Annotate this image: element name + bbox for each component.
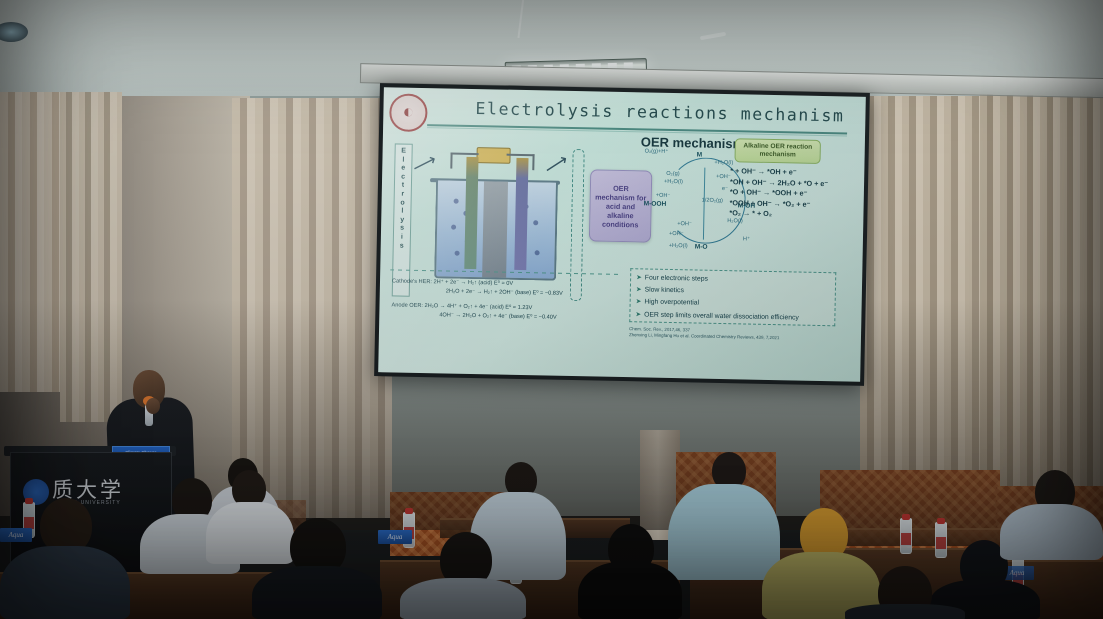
vertical-letter: l	[402, 156, 404, 165]
alkaline-oer-title-box: Alkaline OER reaction mechanism	[734, 138, 820, 164]
cycle-edge-label: O₂(g)+H⁺	[645, 148, 669, 154]
cycle-node-m-ooh: M-OOH	[644, 200, 667, 207]
cycle-edge-label: e⁻	[722, 186, 728, 192]
vertical-electrolysis-label: E l e c t r o l y s i s	[392, 143, 413, 296]
gas-bubble	[451, 225, 456, 230]
bullet-text: Slow kinetics	[645, 287, 684, 295]
dashed-connector	[570, 149, 585, 301]
membrane	[482, 181, 508, 277]
bullet-marker-icon: ➤	[636, 274, 642, 281]
audience-body	[1000, 504, 1103, 560]
cycle-edge-label: H⁺	[743, 236, 750, 242]
gas-bubble	[455, 251, 460, 256]
audience-body	[845, 604, 965, 619]
key-points-box: ➤Four electronic steps ➤Slow kinetics ➤H…	[629, 268, 836, 326]
cycle-node-m: M	[697, 151, 703, 158]
aqua-brand-sign: Aqua	[378, 530, 412, 544]
vertical-letter: c	[401, 173, 405, 182]
gas-bubble	[533, 220, 538, 225]
wire-right-down	[532, 154, 534, 170]
cycle-edge-label: +OH⁻	[677, 221, 692, 227]
bottle-label	[936, 537, 946, 549]
cycle-edge-label: +H₂O(l)	[669, 243, 688, 249]
bullet-text: Four electronic steps	[645, 274, 708, 282]
cathode-label: Cathode's HER:	[392, 278, 432, 285]
slide-title: Electrolysis reactions mechanism	[475, 99, 844, 125]
cathode-equation: 2H⁺ + 2e⁻ → H₂↑ (acid) E⁰ = 0V	[433, 279, 513, 287]
lecture-hall-photo: ◐ Electrolysis reactions mechanism OER m…	[0, 0, 1103, 619]
vertical-letter: r	[401, 191, 404, 200]
cycle-edge-label: +OH⁻	[656, 193, 671, 199]
bullet-text: OER step limits overall water dissociati…	[644, 311, 799, 321]
wire-left	[451, 153, 479, 156]
bullet-marker-icon: ➤	[635, 311, 641, 318]
equation-row: *O₂ → * + O₂	[729, 209, 833, 222]
half-reaction-equations: Cathode's HER: 2H⁺ + 2e⁻ → H₂↑ (acid) E⁰…	[391, 277, 624, 324]
audience-body	[206, 502, 294, 564]
audience-body	[252, 566, 382, 619]
vertical-letter: E	[401, 148, 406, 157]
vertical-letter: e	[401, 165, 405, 174]
university-logo-icon: ◐	[389, 93, 428, 132]
cycle-edge-label: +H₂O(l)	[664, 179, 683, 185]
cycle-edge-label: O₂(g)	[666, 171, 679, 177]
cycle-node-m-o: M-O	[695, 243, 708, 250]
vertical-letter: s	[400, 225, 404, 234]
bottle-cap	[902, 514, 910, 520]
vertical-letter: i	[401, 234, 403, 243]
bullet-text: High overpotential	[644, 299, 699, 307]
bullet-marker-icon: ➤	[636, 299, 642, 306]
anode-electrode	[464, 157, 478, 269]
bullet-marker-icon: ➤	[636, 286, 642, 293]
reference-list: Chem. Soc. Rev., 2017,46, 337 Zhenxing L…	[629, 326, 839, 342]
audience-body	[0, 546, 130, 619]
audience-body	[668, 484, 780, 580]
projection-screen: ◐ Electrolysis reactions mechanism OER m…	[374, 83, 870, 386]
vertical-letter: s	[400, 242, 404, 251]
wire-left-down	[450, 153, 452, 169]
gas-bubble	[535, 250, 540, 255]
vertical-letter: o	[400, 199, 404, 208]
aqua-brand-sign: Aqua	[0, 528, 32, 542]
beaker	[434, 180, 558, 280]
water-bottle	[900, 518, 912, 554]
bottle-cap	[25, 498, 33, 504]
cycle-edge-label: +OH⁻	[716, 174, 731, 180]
gas-outlet-arrow-left-icon: ⟶	[409, 150, 440, 179]
cycle-edge-label: +OH⁻	[669, 231, 684, 237]
vertical-letter: t	[402, 182, 405, 191]
cathode-electrode	[514, 158, 528, 270]
slide-content: ◐ Electrolysis reactions mechanism OER m…	[378, 87, 866, 382]
vertical-letter: l	[401, 208, 403, 217]
cycle-edge-label: 1/2O₂(g)	[702, 198, 723, 204]
bottle-label	[901, 533, 911, 545]
vertical-letter: y	[400, 216, 404, 225]
audience-body	[578, 562, 682, 619]
bottle-cap	[937, 518, 945, 524]
gas-bubble	[454, 199, 459, 204]
electrolysis-cell-diagram: ⟶ ⟶	[424, 150, 567, 285]
water-bottle	[935, 522, 947, 558]
audience-body	[400, 578, 526, 619]
anode-equation: 2H₂O → 4H⁺ + O₂↑ + 4e⁻ (acid) E⁰ = 1.23V	[424, 303, 532, 311]
alkaline-equation-list: * + OH⁻ → *OH + e⁻ *OH + OH⁻ → 2H₂O + *O…	[729, 166, 834, 221]
bottle-cap	[405, 508, 413, 514]
gas-outlet-arrow-right-icon: ⟶	[541, 150, 572, 180]
presenter-hand	[146, 398, 160, 414]
bullet-item: ➤OER step limits overall water dissociat…	[635, 309, 829, 325]
wire-right	[507, 154, 535, 157]
anode-label: Anode OER:	[391, 302, 423, 309]
